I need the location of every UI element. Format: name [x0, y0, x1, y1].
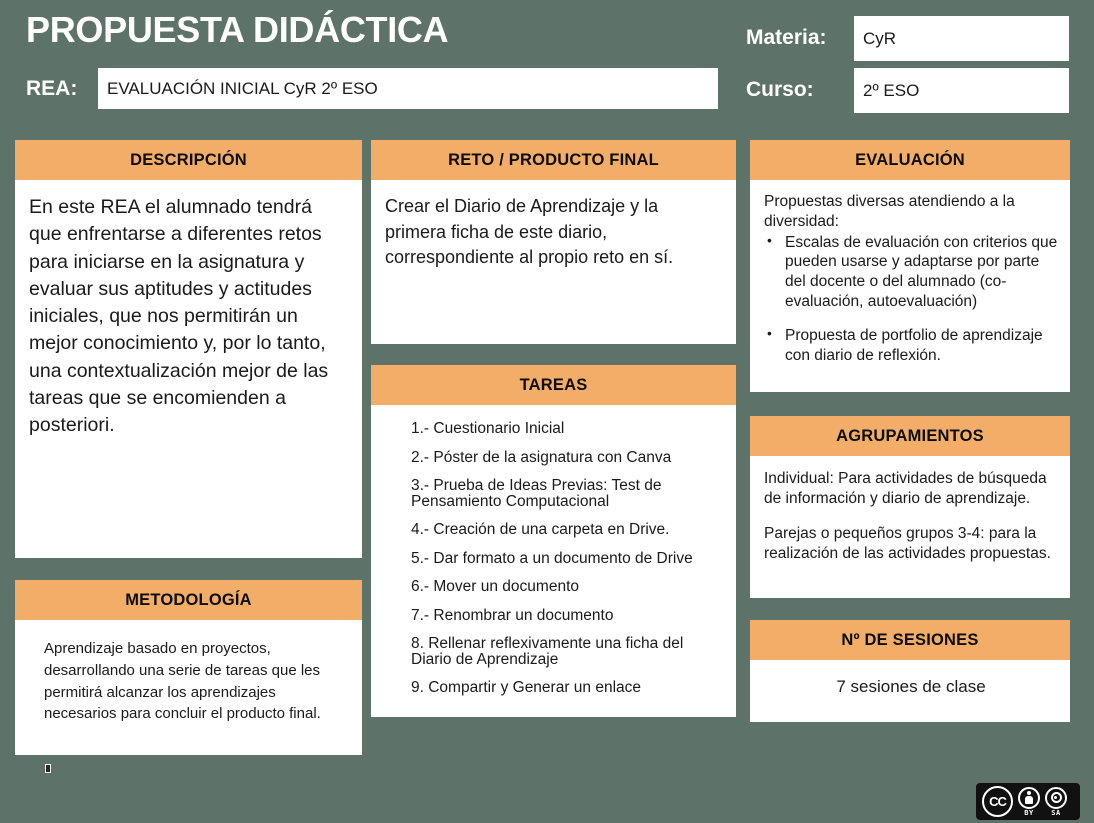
panel-reto-title: RETO / PRODUCTO FINAL [371, 140, 736, 180]
share-alike-icon [1045, 787, 1067, 809]
materia-label: Materia: [746, 26, 827, 50]
cc-by-label: BY [1024, 810, 1033, 817]
panel-descripcion: DESCRIPCIÓN En este REA el alumnado tend… [15, 140, 362, 558]
panel-tareas: TAREAS 1.- Cuestionario Inicial 2.- Póst… [371, 365, 736, 717]
panel-tareas-title: TAREAS [371, 365, 736, 405]
creative-commons-icon: CC [982, 786, 1013, 817]
cc-sa-group: SA [1045, 787, 1067, 817]
middle-column: RETO / PRODUCTO FINAL Crear el Diario de… [371, 140, 736, 717]
panel-descripcion-title: DESCRIPCIÓN [15, 140, 362, 180]
list-item: 9. Compartir y Generar un enlace [411, 680, 722, 696]
list-item: 4.- Creación de una carpeta en Drive. [411, 522, 722, 538]
panel-metodologia-body: Aprendizaje basado en proyectos, desarro… [15, 620, 362, 755]
panel-metodologia: METODOLOGÍA Aprendizaje basado en proyec… [15, 580, 362, 755]
list-item: Propuesta de portfolio de aprendizaje co… [764, 326, 1058, 366]
list-item: Escalas de evaluación con criterios que … [764, 233, 1058, 312]
right-column: EVALUACIÓN Propuestas diversas atendiend… [750, 140, 1070, 722]
panel-evaluacion-title: EVALUACIÓN [750, 140, 1070, 180]
list-item: 1.- Cuestionario Inicial [411, 421, 722, 437]
panel-sesiones: Nº DE SESIONES 7 sesiones de clase [750, 620, 1070, 722]
evaluacion-intro: Propuestas diversas atendiendo a la dive… [764, 192, 1058, 232]
cc-license-badge[interactable]: CC BY SA [976, 783, 1080, 820]
panel-evaluacion: EVALUACIÓN Propuestas diversas atendiend… [750, 140, 1070, 392]
cc-sa-label: SA [1051, 810, 1060, 817]
panel-sesiones-title: Nº DE SESIONES [750, 620, 1070, 660]
attribution-person-icon [1018, 787, 1040, 809]
list-item: 6.- Mover un documento [411, 579, 722, 595]
panel-agrupamientos: AGRUPAMIENTOS Individual: Para actividad… [750, 416, 1070, 598]
panel-sesiones-body: 7 sesiones de clase [750, 660, 1070, 722]
page-title: PROPUESTA DIDÁCTICA [26, 9, 448, 51]
curso-input[interactable]: 2º ESO [854, 68, 1069, 113]
agrupamientos-paragraph: Parejas o pequeños grupos 3-4: para la r… [764, 524, 1058, 564]
cc-icon-label: CC [989, 795, 1006, 808]
panel-reto-body: Crear el Diario de Aprendizaje y la prim… [371, 180, 736, 344]
cc-by-group: BY [1018, 787, 1040, 817]
list-item: 2.- Póster de la asignatura con Canva [411, 450, 722, 466]
panel-reto: RETO / PRODUCTO FINAL Crear el Diario de… [371, 140, 736, 344]
list-item: 5.- Dar formato a un documento de Drive [411, 551, 722, 567]
rea-input[interactable]: EVALUACIÓN INICIAL CyR 2º ESO [98, 68, 718, 109]
list-item: 8. Rellenar reflexivamente una ficha del… [411, 636, 722, 667]
list-item: 7.- Renombrar un documento [411, 608, 722, 624]
left-column: DESCRIPCIÓN En este REA el alumnado tend… [15, 140, 362, 755]
stray-mark [45, 764, 51, 773]
agrupamientos-paragraph: Individual: Para actividades de búsqueda… [764, 469, 1058, 509]
panel-metodologia-title: METODOLOGÍA [15, 580, 362, 620]
panel-descripcion-body: En este REA el alumnado tendrá que enfre… [15, 180, 362, 558]
panel-tareas-body: 1.- Cuestionario Inicial 2.- Póster de l… [371, 405, 736, 717]
materia-input[interactable]: CyR [854, 16, 1069, 61]
page-header: PROPUESTA DIDÁCTICA REA: EVALUACIÓN INIC… [0, 0, 1094, 125]
panel-agrupamientos-title: AGRUPAMIENTOS [750, 416, 1070, 456]
evaluacion-bullets: Escalas de evaluación con criterios que … [764, 233, 1058, 366]
panel-evaluacion-body: Propuestas diversas atendiendo a la dive… [750, 180, 1070, 392]
tareas-list: 1.- Cuestionario Inicial 2.- Póster de l… [411, 421, 722, 696]
rea-label: REA: [26, 77, 77, 101]
curso-label: Curso: [746, 78, 814, 102]
panel-agrupamientos-body: Individual: Para actividades de búsqueda… [750, 456, 1070, 598]
list-item: 3.- Prueba de Ideas Previas: Test de Pen… [411, 478, 722, 509]
